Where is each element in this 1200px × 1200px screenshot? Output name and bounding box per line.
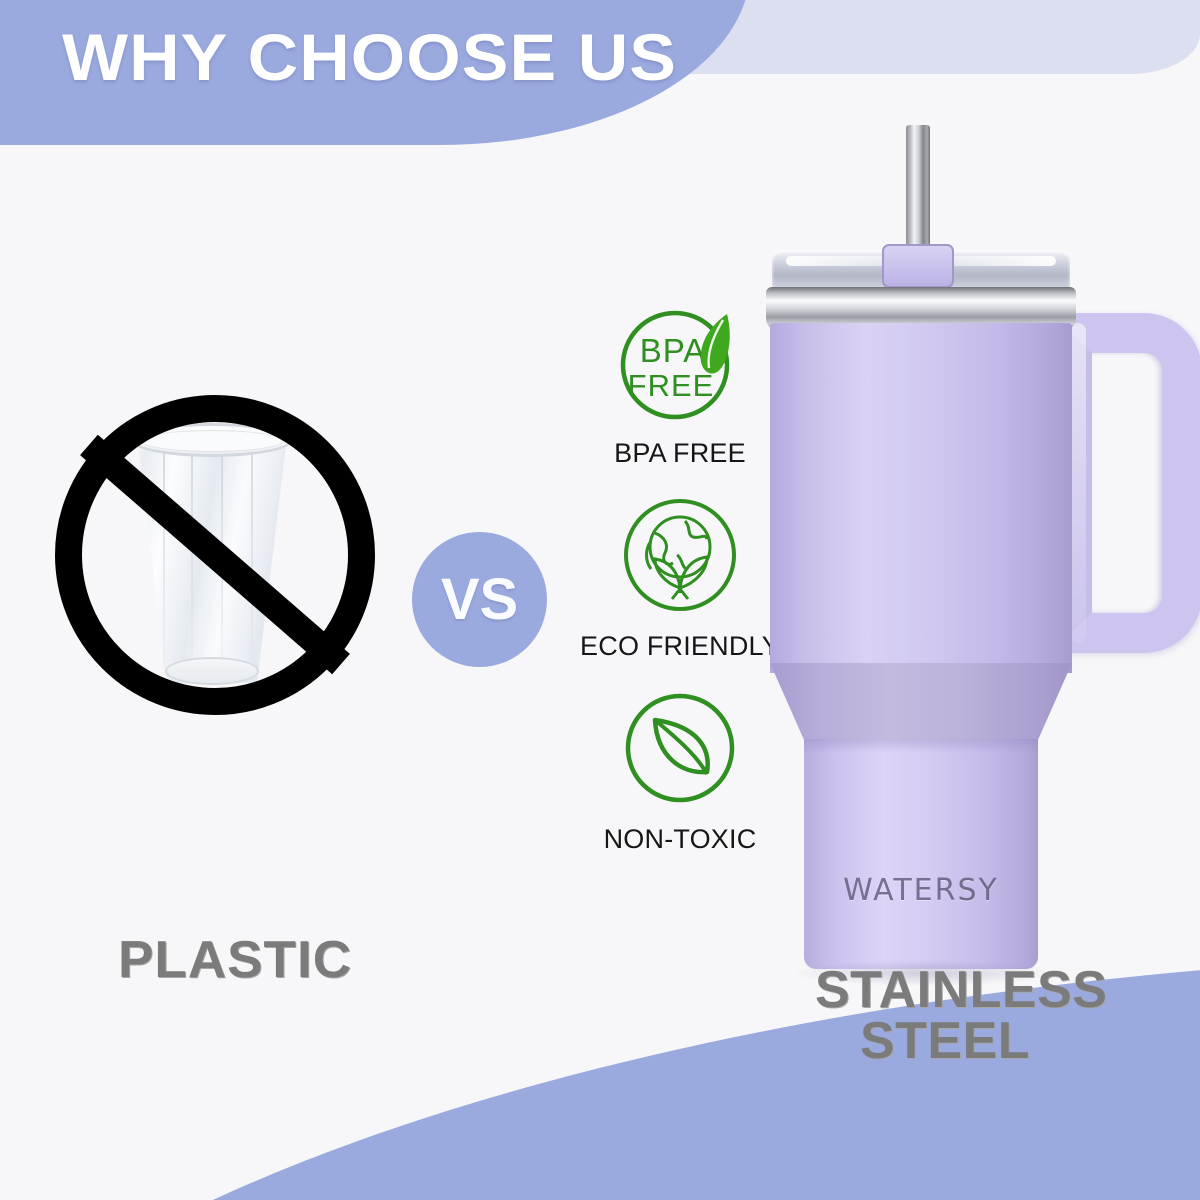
tumbler-body-lower bbox=[804, 739, 1038, 969]
vs-label: VS bbox=[441, 566, 518, 633]
svg-text:BPA: BPA bbox=[640, 332, 707, 369]
tumbler-shoulder bbox=[770, 663, 1072, 745]
plastic-label: PLASTIC bbox=[118, 930, 352, 990]
globe-leaves-icon bbox=[615, 493, 745, 623]
tumbler-group: WATERSY bbox=[730, 115, 1200, 995]
stainless-steel-label: STAINLESS STEEL bbox=[815, 965, 1075, 1067]
page-title: WHY CHOOSE US bbox=[62, 24, 677, 90]
stainless-steel-label-line2: STEEL bbox=[815, 1016, 1075, 1067]
plastic-cup-group bbox=[55, 395, 375, 715]
handle-gloss bbox=[1070, 323, 1086, 643]
tumbler-body-shadow bbox=[804, 739, 1038, 753]
infographic-canvas: WHY CHOOSE US PLASTIC VS BPA FREE BPA FR… bbox=[0, 0, 1200, 1200]
vs-badge: VS bbox=[412, 532, 547, 667]
bpa-free-leaf-icon: BPA FREE bbox=[615, 300, 745, 430]
stainless-steel-label-line1: STAINLESS bbox=[815, 965, 1075, 1016]
svg-text:FREE: FREE bbox=[628, 368, 715, 403]
straw-holder-block bbox=[882, 244, 954, 288]
brand-logo: WATERSY bbox=[804, 873, 1038, 908]
feature-label: BPA FREE bbox=[614, 438, 746, 469]
tumbler-body-upper bbox=[770, 323, 1072, 673]
leaf-icon bbox=[615, 686, 745, 816]
